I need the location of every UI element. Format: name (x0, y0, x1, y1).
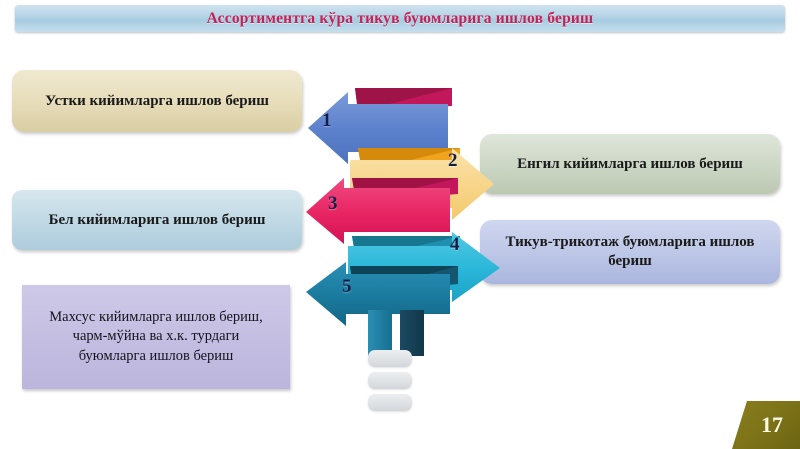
category-label: Махсус кийимларга ишлов бериш, чарм-мўйн… (49, 308, 262, 365)
category-box-waist-garments[interactable]: Бел кийимларига ишлов бериш (12, 190, 302, 250)
slide-title-bar: Ассортиментга кўра тикув буюмларига ишло… (15, 5, 785, 32)
bulb-base-segment (368, 350, 412, 367)
page-number: 17 (749, 412, 783, 438)
page-number-badge: 17 (732, 401, 800, 449)
bulb-base-segment (368, 372, 412, 389)
page-title: Ассортиментга кўра тикув буюмларига ишло… (207, 10, 594, 28)
category-label: Тикув-трикотаж буюмларига ишлов бериш (494, 233, 766, 271)
category-box-special-garments[interactable]: Махсус кийимларга ишлов бериш, чарм-мўйн… (22, 285, 290, 389)
category-box-light-garments[interactable]: Енгил кийимларга ишлов бериш (480, 134, 780, 194)
category-label: Енгил кийимларга ишлов бериш (517, 155, 743, 174)
category-box-outer-garments[interactable]: Устки кийимларга ишлов бериш (12, 70, 302, 132)
bulb-base-segment (368, 394, 412, 411)
category-box-knitwear[interactable]: Тикув-трикотаж буюмларига ишлов бериш (480, 220, 780, 284)
category-label: Бел кийимларига ишлов бериш (49, 211, 266, 230)
category-label: Устки кийимларга ишлов бериш (45, 92, 269, 111)
